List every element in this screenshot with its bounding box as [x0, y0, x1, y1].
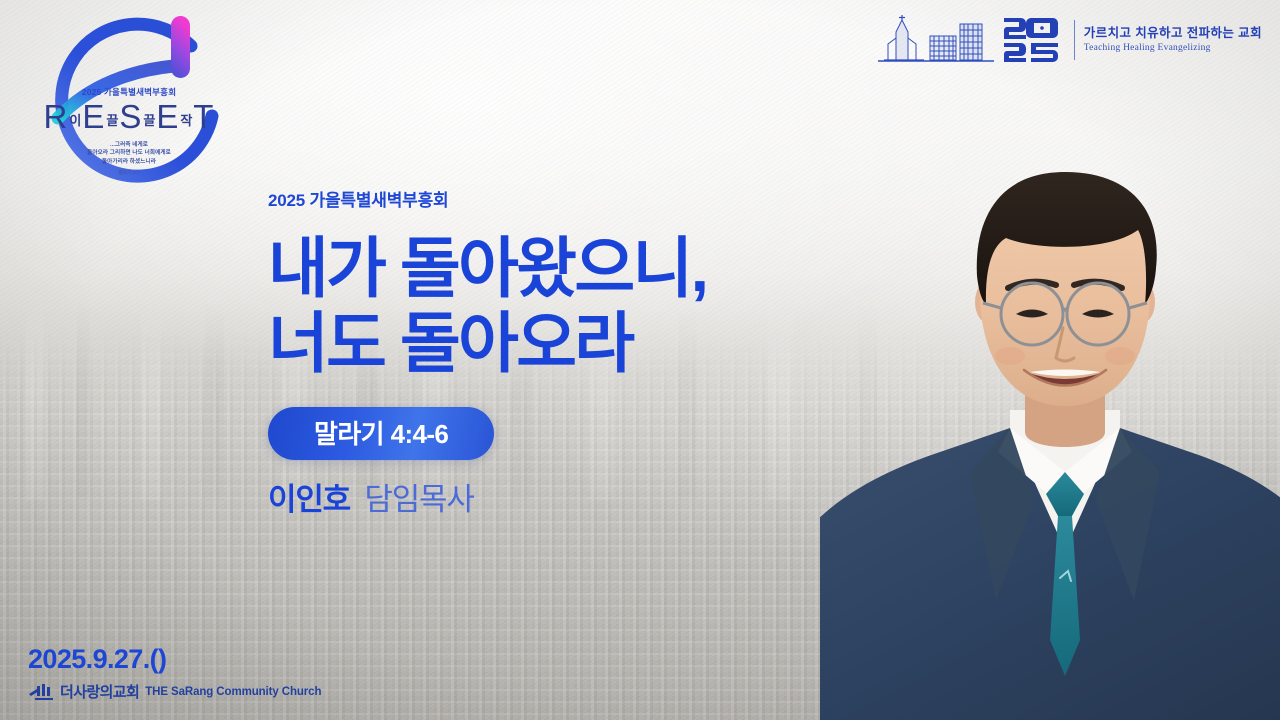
- church-name-en: THE SaRang Community Church: [145, 686, 321, 698]
- headline-line-2: 너도 돌아오라: [268, 306, 888, 381]
- church-slogan-ko: 가르치고 치유하고 전파하는 교회: [1084, 26, 1262, 41]
- year-2025-mark: [1003, 16, 1065, 64]
- headline-line-1: 내가 돌아왔으니,: [268, 231, 706, 305]
- broadcast-date: 2025.9.27.(): [28, 644, 321, 675]
- reset-emblem-ring-icon: [24, 8, 234, 198]
- speaker-name: 이인호: [268, 482, 350, 517]
- sermon-headline: 내가 돌아왔으니, 너도 돌아오라: [268, 231, 888, 381]
- church-slogan: 가르치고 치유하고 전파하는 교회 Teaching Healing Evang…: [1084, 26, 1262, 55]
- sarang-church-icon: [28, 683, 54, 700]
- event-eyebrow: 2025 가을특별새벽부흥회: [268, 186, 888, 211]
- title-card-slide: 2025 가을특별새벽부흥회 R이E끌S끌E작T ...그러즉 네게로 돌아오라…: [0, 0, 1280, 720]
- scripture-badge: 말라기 4:4-6: [268, 407, 494, 460]
- church-name-ko: 더사랑의교회: [60, 681, 139, 702]
- reset-emblem: 2025 가을특별새벽부흥회 R이E끌S끌E작T ...그러즉 네게로 돌아오라…: [24, 8, 234, 198]
- church-identity-lockup: 가르치고 치유하고 전파하는 교회 Teaching Healing Evang…: [878, 14, 1262, 66]
- main-text-block: 2025 가을특별새벽부흥회 내가 돌아왔으니, 너도 돌아오라 말라기 4:4…: [268, 186, 888, 519]
- speaker-line: 이인호 담임목사: [268, 474, 888, 519]
- identity-divider: [1074, 20, 1075, 60]
- church-slogan-en: Teaching Healing Evangelizing: [1084, 43, 1262, 55]
- footer-block: 2025.9.27.() 더사랑의교회 THE SaRang Community…: [28, 644, 321, 702]
- church-logo-lockup: 더사랑의교회 THE SaRang Community Church: [28, 681, 321, 702]
- speaker-portrait-illustration: [820, 80, 1280, 720]
- speaker-portrait: [820, 80, 1280, 720]
- church-buildings-icon: [878, 14, 994, 66]
- speaker-title: 담임목사: [364, 482, 473, 517]
